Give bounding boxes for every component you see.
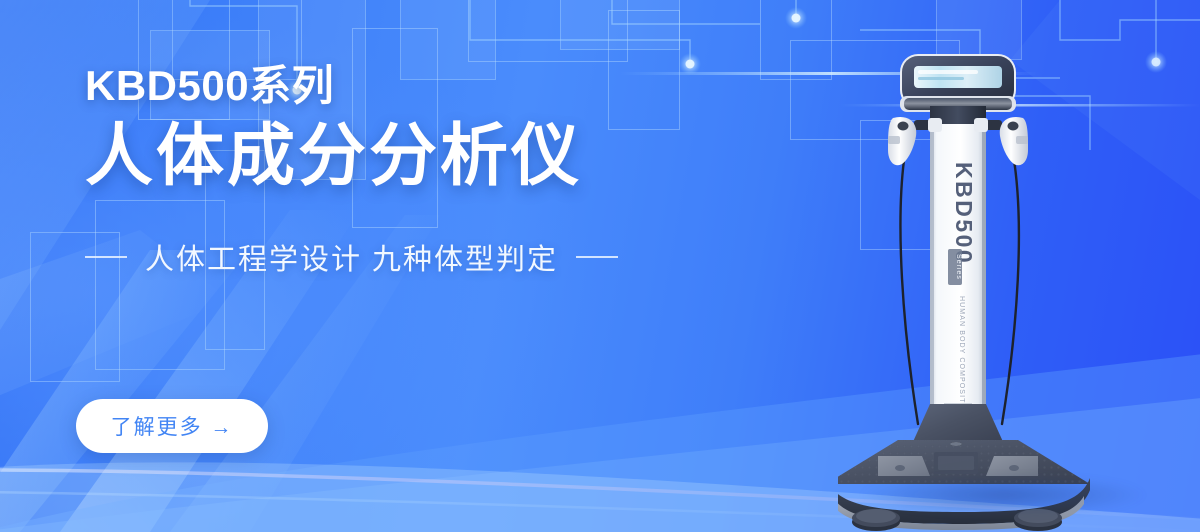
learn-more-button[interactable]: 了解更多 → <box>76 399 268 453</box>
product-hero-banner: KBD500系列 人体成分分析仪 人体工程学设计 九种体型判定 了解更多 → <box>0 0 1200 532</box>
device-display-head <box>900 54 1016 112</box>
device-series-badge: Series <box>955 254 962 280</box>
device-column-taper <box>912 404 1004 444</box>
device-illustration: KBD500 Series HUMAN BODY COMPOSITION ANA… <box>838 44 1168 532</box>
hero-subtitle: 人体工程学设计 九种体型判定 <box>145 236 558 278</box>
electrode-pad-left <box>878 456 930 476</box>
brand-kicker: KBD500系列 <box>85 62 705 109</box>
subtitle-row: 人体工程学设计 九种体型判定 <box>85 236 705 278</box>
page-title: 人体成分分析仪 <box>85 119 705 194</box>
dash-left-decor <box>85 256 127 258</box>
hero-copy-block: KBD500系列 人体成分分析仪 人体工程学设计 九种体型判定 <box>85 62 705 278</box>
device-shadow <box>858 474 1148 516</box>
product-device-image: KBD500 Series HUMAN BODY COMPOSITION ANA… <box>838 44 1168 532</box>
dash-right-decor <box>576 256 618 258</box>
